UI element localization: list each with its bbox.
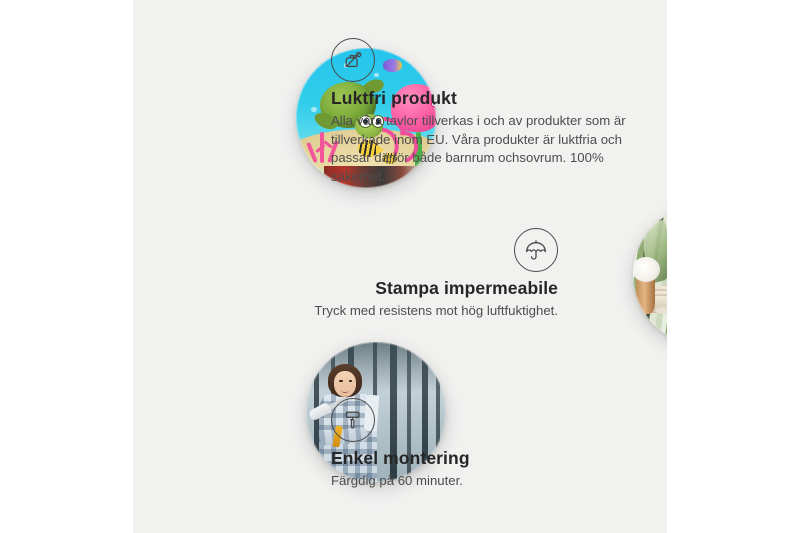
bathroom-tropical-wallpaper-photo: [633, 205, 667, 345]
feature-mounting: Enkel montering Färgdig på 60 minuter.: [331, 398, 631, 491]
infographic-root: Luktfri produkt Alla våra tavlor tillver…: [0, 0, 800, 533]
feature-title: Stampa impermeabile: [173, 278, 558, 299]
bathroom-scene: [633, 205, 667, 345]
feature-description: Tryck med resistens mot hög luftfuktighe…: [173, 302, 558, 321]
feature-description: Färgdig på 60 minuter.: [331, 472, 631, 491]
feature-waterproof: Stampa impermeabile Tryck med resistens …: [173, 228, 558, 321]
forest-canopy: [306, 342, 446, 392]
paint-roller-icon: [331, 398, 375, 442]
flower-bouquet: [633, 257, 660, 282]
soap-dish: [655, 307, 667, 314]
umbrella-icon: [514, 228, 558, 272]
feature-odourless: Luktfri produkt Alla våra tavlor tillver…: [331, 38, 631, 186]
content-panel: Luktfri produkt Alla våra tavlor tillver…: [133, 0, 667, 533]
woman-eye: [339, 380, 343, 382]
no-fragrance-icon: [331, 38, 375, 82]
feature-title: Luktfri produkt: [331, 88, 631, 109]
feature-title: Enkel montering: [331, 448, 631, 469]
feature-description: Alla våra tavlor tillverkas i och av pro…: [331, 112, 631, 186]
